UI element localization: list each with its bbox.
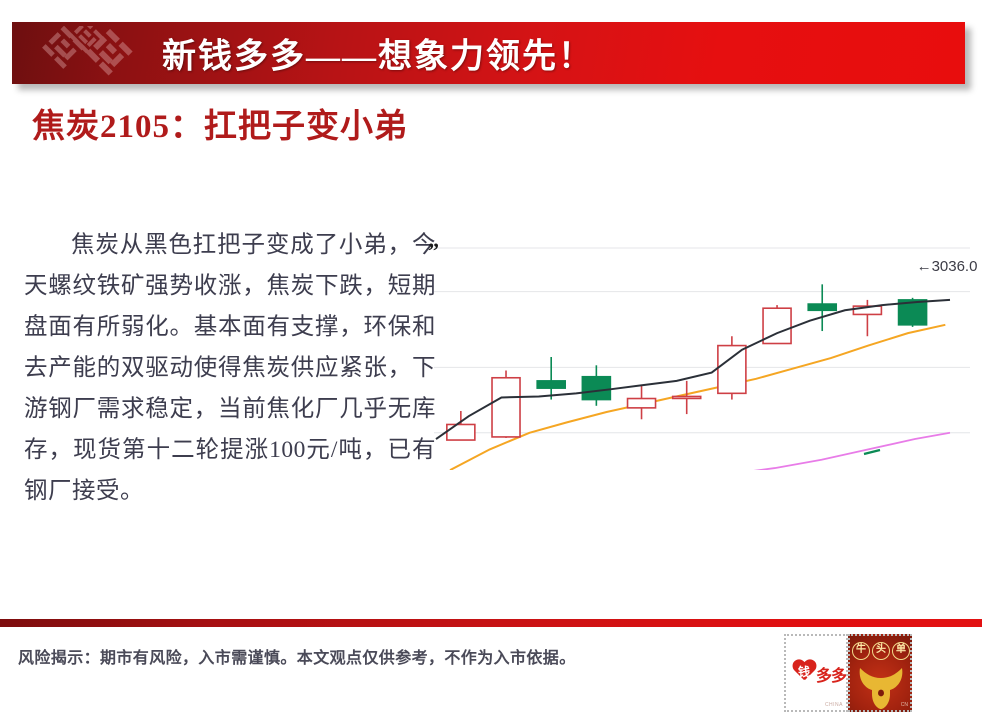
stamp-right-mini: CN: [901, 702, 908, 708]
page-title: 焦炭2105：扛把子变小弟: [32, 104, 432, 152]
candle-3: [582, 365, 610, 405]
slide-root: 新钱多多——想象力领先！ 焦炭2105：扛把子变小弟 焦炭从黑色扛把子变成了小弟…: [0, 0, 982, 720]
stamp-circle-2: 单: [892, 642, 910, 660]
disclaimer-text: 风险揭示：期市有风险，入市需谨慎。本文观点仅供参考，不作为入市依据。: [18, 644, 576, 668]
stamp-left-mini: CHINA: [825, 702, 843, 708]
chart-canvas: [432, 244, 972, 470]
stamp-left-text: 多多: [816, 662, 846, 686]
stamp-qianduoduo: 钱 多多 CHINA: [784, 634, 848, 712]
candle-4: [628, 385, 656, 419]
qianduoduo-pattern-logo-icon: [34, 26, 154, 84]
candle-1: [492, 370, 520, 437]
stamp-circle-1: 头: [872, 642, 890, 660]
stamp-niutoudan: 牛头单 CN: [848, 634, 912, 712]
candle-5: [673, 381, 701, 414]
header-title: 新钱多多——想象力领先！: [162, 29, 594, 78]
candle-2: [537, 357, 565, 400]
header-banner: 新钱多多——想象力领先！: [12, 22, 965, 84]
stamp-right-circles: 牛头单: [851, 642, 911, 660]
footer-divider: [0, 619, 982, 627]
bull-head-icon: [856, 662, 906, 710]
stamp-heart-char: 钱: [794, 662, 814, 682]
quote-glyph: ”: [428, 238, 439, 264]
candlestick-chart: ” ←3036.0: [432, 244, 972, 470]
price-annotation-label: ←3036.0: [917, 258, 978, 275]
brand-stamps: 钱 多多 CHINA 牛头单 CN: [784, 634, 912, 712]
stamp-circle-0: 牛: [852, 642, 870, 660]
article-body: 焦炭从黑色扛把子变成了小弟，今天螺纹铁矿强势收涨，焦炭下跌，短期盘面有所弱化。基…: [24, 225, 436, 512]
candle-6: [718, 336, 746, 399]
ma-long-line: [728, 433, 950, 470]
